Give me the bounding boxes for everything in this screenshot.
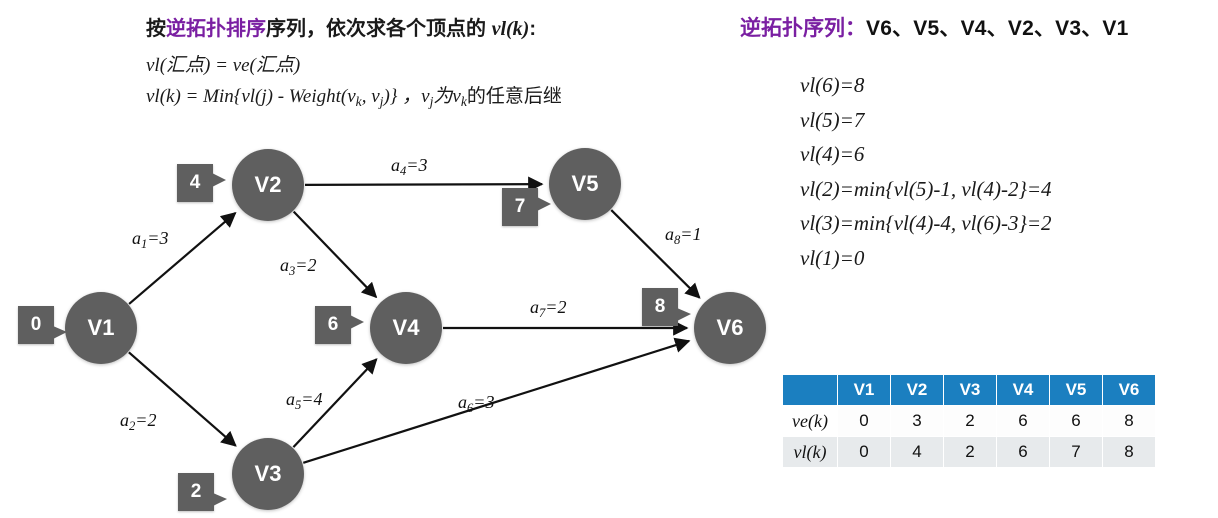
table-cell: 8: [1103, 406, 1156, 437]
table-corner-cell: [783, 375, 838, 406]
table-col-header: V2: [891, 375, 944, 406]
badge-value: 8: [655, 296, 666, 318]
graph-edge-a4: [305, 184, 542, 185]
graph-node-v5[interactable]: V5: [549, 148, 621, 220]
edge-label-weight: =3: [406, 155, 427, 175]
table-col-header: V4: [997, 375, 1050, 406]
badge-value: 6: [328, 314, 339, 336]
graph-edge-a1: [129, 213, 235, 304]
edge-label-weight: =2: [545, 297, 566, 317]
table-cell: 2: [944, 437, 997, 468]
edge-label-weight: =4: [301, 389, 322, 409]
edge-label-weight: =2: [295, 255, 316, 275]
table-cell: 3: [891, 406, 944, 437]
table-row: ve(k) 0 3 2 6 6 8: [783, 406, 1156, 437]
badge-pointer-icon: [350, 315, 364, 329]
edge-label-name: a: [458, 392, 467, 412]
vl-step: vl(4)=6: [800, 137, 1052, 172]
graph-edge-a6: [303, 341, 689, 463]
aoe-network-graph: V1V2V3V4V5V6 042678 a1=3a2=2a3=2a4=3a5=4…: [0, 0, 790, 518]
table-row-label: ve(k): [783, 406, 838, 437]
graph-node-label: V5: [572, 171, 599, 197]
graph-node-label: V1: [88, 315, 115, 341]
edge-label-name: a: [530, 297, 539, 317]
badge-value: 7: [515, 196, 526, 218]
edge-label-a8: a8=1: [665, 224, 701, 248]
edge-label-name: a: [286, 389, 295, 409]
graph-node-label: V6: [717, 315, 744, 341]
badge-pointer-icon: [53, 326, 67, 339]
edge-label-a6: a6=3: [458, 392, 494, 416]
badge-pointer-icon: [537, 197, 551, 211]
badge-v5: 7: [502, 188, 538, 226]
vl-step: vl(3)=min{vl(4)-4, vl(6)-3}=2: [800, 206, 1052, 241]
table-cell: 0: [838, 406, 891, 437]
table-header-row: V1 V2 V3 V4 V5 V6: [783, 375, 1156, 406]
edge-label-weight: =1: [680, 224, 701, 244]
table-row-label: vl(k): [783, 437, 838, 468]
vl-steps-list: vl(6)=8 vl(5)=7 vl(4)=6 vl(2)=min{vl(5)-…: [800, 68, 1052, 275]
table-row: vl(k) 0 4 2 6 7 8: [783, 437, 1156, 468]
table-col-header: V5: [1050, 375, 1103, 406]
table-cell: 6: [1050, 406, 1103, 437]
badge-v6: 8: [642, 288, 678, 326]
table-cell: 2: [944, 406, 997, 437]
edge-label-a1: a1=3: [132, 228, 168, 252]
edge-label-weight: =3: [147, 228, 168, 248]
edge-label-a3: a3=2: [280, 255, 316, 279]
table-cell: 6: [997, 437, 1050, 468]
edge-label-name: a: [391, 155, 400, 175]
reverse-topo-sequence: V6、V5、V4、V2、V3、V1: [866, 17, 1129, 40]
badge-value: 2: [191, 481, 202, 503]
badge-v2: 4: [177, 164, 213, 202]
table-col-header: V3: [944, 375, 997, 406]
table-cell: 8: [1103, 437, 1156, 468]
edge-label-name: a: [665, 224, 674, 244]
edge-label-a5: a5=4: [286, 389, 322, 413]
graph-node-v2[interactable]: V2: [232, 149, 304, 221]
badge-value: 0: [31, 314, 42, 336]
graph-node-label: V2: [255, 172, 282, 198]
table-cell: 6: [997, 406, 1050, 437]
table-col-header: V1: [838, 375, 891, 406]
graph-node-v1[interactable]: V1: [65, 292, 137, 364]
edge-label-name: a: [132, 228, 141, 248]
edge-label-a4: a4=3: [391, 155, 427, 179]
edge-label-weight: =2: [135, 410, 156, 430]
edge-label-a7: a7=2: [530, 297, 566, 321]
table-cell: 4: [891, 437, 944, 468]
vl-step: vl(2)=min{vl(5)-1, vl(4)-2}=4: [800, 172, 1052, 207]
vl-step: vl(5)=7: [800, 103, 1052, 138]
graph-edges-layer: [0, 0, 790, 518]
table-col-header: V6: [1103, 375, 1156, 406]
ve-vl-table: V1 V2 V3 V4 V5 V6 ve(k) 0 3 2 6 6 8 vl(k…: [782, 374, 1156, 468]
badge-v3: 2: [178, 473, 214, 511]
graph-node-v3[interactable]: V3: [232, 438, 304, 510]
badge-pointer-icon: [213, 493, 227, 506]
edge-label-weight: =3: [473, 392, 494, 412]
graph-node-label: V4: [393, 315, 420, 341]
badge-v1: 0: [18, 306, 54, 344]
badge-pointer-icon: [677, 308, 691, 321]
edge-label-a2: a2=2: [120, 410, 156, 434]
table-cell: 0: [838, 437, 891, 468]
graph-node-label: V3: [255, 461, 282, 487]
graph-node-v6[interactable]: V6: [694, 292, 766, 364]
vl-step: vl(6)=8: [800, 68, 1052, 103]
reverse-topo-heading: 逆拓扑序列：V6、V5、V4、V2、V3、V1: [740, 12, 1129, 42]
edge-label-name: a: [280, 255, 289, 275]
edge-label-name: a: [120, 410, 129, 430]
graph-node-v4[interactable]: V4: [370, 292, 442, 364]
vl-step: vl(1)=0: [800, 241, 1052, 276]
badge-value: 4: [190, 172, 201, 194]
badge-v4: 6: [315, 306, 351, 344]
badge-pointer-icon: [212, 173, 226, 187]
table-cell: 7: [1050, 437, 1103, 468]
